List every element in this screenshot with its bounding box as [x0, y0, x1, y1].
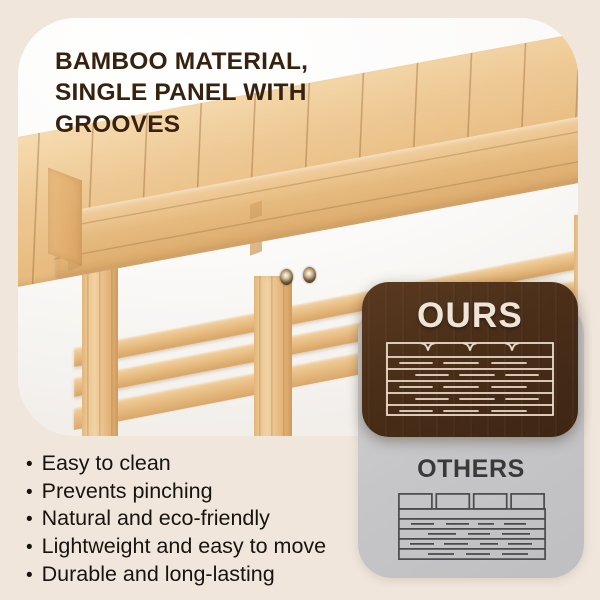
list-item-label: Natural and eco-friendly	[42, 505, 270, 533]
marketing-image: BAMBOO MATERIAL, SINGLE PANEL WITH GROOV…	[0, 0, 600, 600]
list-item-label: Lightweight and easy to move	[42, 533, 326, 561]
ours-diagram-icon	[386, 342, 554, 416]
bullet-icon: •	[26, 510, 33, 529]
bench-screw	[303, 267, 316, 283]
ours-label: OURS	[362, 296, 578, 336]
joinery-notch	[250, 200, 262, 219]
others-diagram-icon	[398, 493, 546, 560]
bullet-icon: •	[26, 538, 33, 557]
list-item: • Natural and eco-friendly	[26, 505, 356, 533]
feature-list: • Easy to clean • Prevents pinching • Na…	[26, 450, 356, 589]
bench-leg-left	[82, 250, 118, 436]
list-item: • Lightweight and easy to move	[26, 533, 356, 561]
list-item-label: Durable and long-lasting	[42, 561, 275, 589]
comparison-panel-ours: OURS	[362, 282, 578, 437]
list-item-label: Prevents pinching	[42, 478, 213, 506]
bench-end-cap	[48, 167, 82, 266]
bench-screw	[280, 269, 293, 285]
page-title: BAMBOO MATERIAL, SINGLE PANEL WITH GROOV…	[55, 46, 385, 140]
joinery-notch	[250, 236, 262, 255]
bullet-icon: •	[26, 483, 33, 502]
list-item: • Easy to clean	[26, 450, 356, 478]
bench-leg-middle	[254, 276, 292, 436]
bullet-icon: •	[26, 455, 33, 474]
list-item: • Prevents pinching	[26, 478, 356, 506]
others-label: OTHERS	[358, 455, 584, 484]
list-item: • Durable and long-lasting	[26, 561, 356, 589]
bullet-icon: •	[26, 566, 33, 585]
list-item-label: Easy to clean	[42, 450, 171, 478]
